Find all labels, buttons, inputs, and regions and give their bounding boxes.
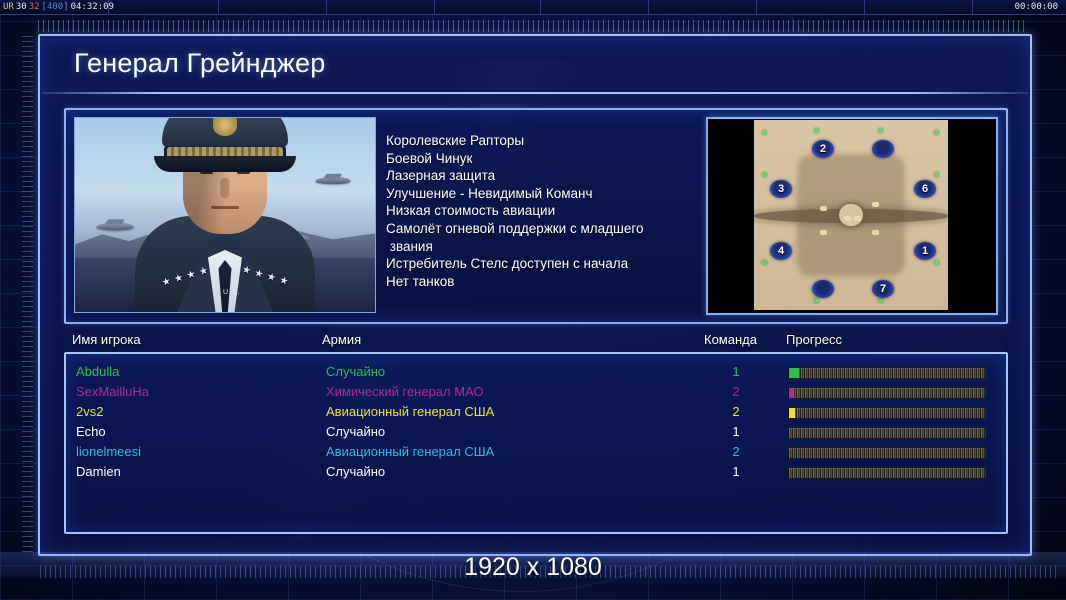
player-army: Случайно <box>326 362 385 382</box>
ability-item: Улучшение - Невидимый Команч <box>386 185 736 203</box>
ability-item: Боевой Чинук <box>386 150 736 168</box>
map-start-position[interactable]: 3 <box>770 180 792 198</box>
minimap-image: 2 3 6 4 1 7 <box>754 120 948 310</box>
ability-item: Королевские Рапторы <box>386 132 736 150</box>
resolution-label: 1920 x 1080 <box>0 552 1066 582</box>
table-row[interactable]: DamienСлучайно1 <box>66 462 1002 482</box>
ruler-vertical-left <box>22 34 33 552</box>
map-start-position[interactable]: 2 <box>812 140 834 158</box>
player-name: Echo <box>76 422 106 442</box>
map-start-position[interactable]: 4 <box>770 242 792 260</box>
ruler-top <box>38 20 1028 32</box>
stat-a: 30 <box>15 2 28 12</box>
player-name: SexMailluHa <box>76 382 149 402</box>
player-progress-bar <box>788 467 986 479</box>
game-screen: UR3032[400]04:32:09 00:00:00 Генерал Гре… <box>0 0 1066 600</box>
player-team: 1 <box>726 462 746 482</box>
player-name: lionelmeesi <box>76 442 141 462</box>
player-progress-bar <box>788 427 986 439</box>
column-header-team: Команда <box>704 332 757 348</box>
map-position-label: 3 <box>770 180 792 198</box>
player-name: 2vs2 <box>76 402 103 422</box>
stat-elapsed-time: 04:32:09 <box>70 2 115 12</box>
ability-item: Нет танков <box>386 273 736 291</box>
table-row[interactable]: SexMailluHaХимический генерал МАО2 <box>66 382 1002 402</box>
minimap[interactable]: 2 3 6 4 1 7 <box>706 117 998 315</box>
player-name: Abdulla <box>76 362 119 382</box>
table-row[interactable]: lionelmeesiАвиационный генерал США2 <box>66 442 1002 462</box>
ability-list: Королевские Рапторы Боевой Чинук Лазерна… <box>386 132 736 290</box>
cap-brim <box>154 156 296 172</box>
player-army: Авиационный генерал США <box>326 442 494 462</box>
column-header-name: Имя игрока <box>72 332 141 348</box>
map-position-label: 4 <box>770 242 792 260</box>
player-progress-fill <box>789 388 793 398</box>
general-info-frame: Генерал Грейнджер ★★★★ ★★★★ U.S. <box>38 34 1032 556</box>
us-insignia: U.S. <box>223 289 241 296</box>
cap-emblem-icon <box>213 117 237 136</box>
ability-item: Лазерная защита <box>386 167 736 185</box>
player-progress-bar <box>788 407 986 419</box>
table-body: AbdullaСлучайно1SexMailluHaХимический ге… <box>64 352 1008 534</box>
player-progress-bar <box>788 387 986 399</box>
map-position-label: 1 <box>914 242 936 260</box>
map-start-position[interactable]: 7 <box>872 280 894 298</box>
column-header-progress: Прогресс <box>786 332 842 348</box>
aircraft-icon <box>96 223 133 231</box>
player-army: Авиационный генерал США <box>326 402 494 422</box>
table-row[interactable]: AbdullaСлучайно1 <box>66 362 1002 382</box>
map-start-position[interactable] <box>872 140 894 158</box>
player-army: Случайно <box>326 462 385 482</box>
map-position-label: 6 <box>914 180 936 198</box>
general-portrait: ★★★★ ★★★★ U.S. <box>74 117 376 313</box>
table-row[interactable]: EchoСлучайно1 <box>66 422 1002 442</box>
network-stats: UR3032[400]04:32:09 <box>2 1 115 13</box>
ability-item: звания <box>386 238 736 256</box>
player-team: 2 <box>726 382 746 402</box>
session-clock: 00:00:00 <box>1015 1 1058 13</box>
player-progress-bar <box>788 447 986 459</box>
player-progress-bar <box>788 367 986 379</box>
player-progress-fill <box>789 368 799 378</box>
stat-bracket: [400] <box>41 2 70 12</box>
map-start-position[interactable]: 6 <box>914 180 936 198</box>
ability-item: Низкая стоимость авиации <box>386 202 736 220</box>
player-team: 1 <box>726 422 746 442</box>
ability-item: Самолёт огневой поддержки с младшего <box>386 220 736 238</box>
general-info-panel: ★★★★ ★★★★ U.S. Королевские Рапторы <box>64 108 1008 324</box>
ability-item: Истребитель Стелс доступен с начала <box>386 255 736 273</box>
title-divider <box>42 92 1028 94</box>
page-title: Генерал Грейнджер <box>74 48 325 79</box>
stat-ur: UR <box>2 2 15 12</box>
player-name: Damien <box>76 462 121 482</box>
map-position-label: 2 <box>812 140 834 158</box>
table-header-row: Имя игрока Армия Команда Прогресс <box>64 332 1004 352</box>
player-army: Химический генерал МАО <box>326 382 484 402</box>
aircraft-icon <box>315 177 350 184</box>
top-status-bar: UR3032[400]04:32:09 00:00:00 <box>0 0 1066 15</box>
map-start-position[interactable]: 1 <box>914 242 936 260</box>
player-team: 2 <box>726 402 746 422</box>
player-army: Случайно <box>326 422 385 442</box>
player-team: 1 <box>726 362 746 382</box>
player-progress-fill <box>789 408 795 418</box>
player-team: 2 <box>726 442 746 462</box>
player-table: Имя игрока Армия Команда Прогресс Abdull… <box>64 332 1004 530</box>
map-start-position[interactable] <box>812 280 834 298</box>
map-center-island <box>839 204 862 227</box>
stat-b: 32 <box>28 2 41 12</box>
column-header-army: Армия <box>322 332 361 348</box>
map-position-label: 7 <box>872 280 894 298</box>
table-row[interactable]: 2vs2Авиационный генерал США2 <box>66 402 1002 422</box>
